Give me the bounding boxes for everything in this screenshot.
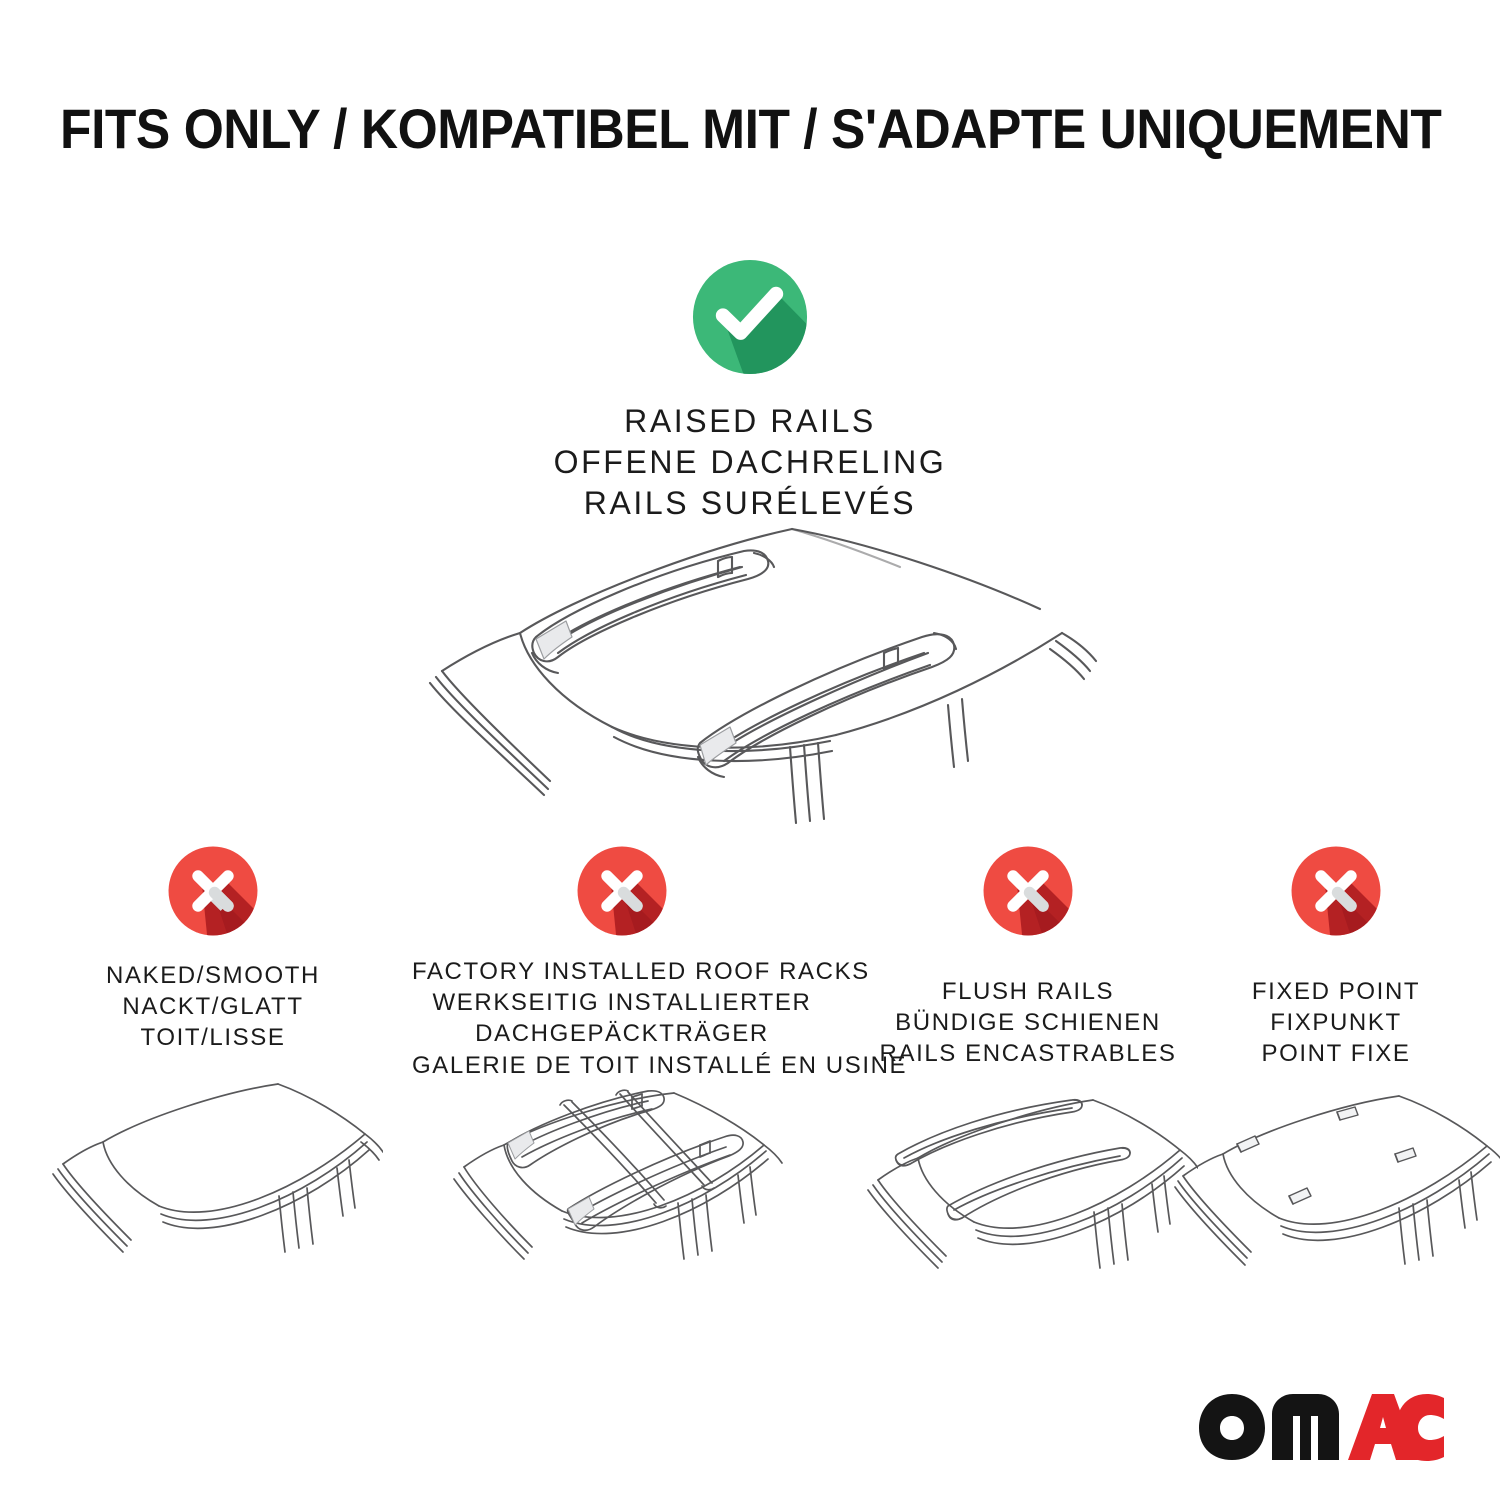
compatible-label-de: OFFENE DACHRELING [0,442,1500,483]
cross-circle-icon [38,845,388,942]
incompatible-label-de: FIXPUNKT [1196,1007,1476,1038]
check-circle-icon [0,258,1500,381]
incompatible-label-fr: TOIT/LISSE [38,1022,388,1053]
car-roof-factory-roof-racks-illustration [412,1085,832,1335]
omac-logo-text: OMAC [1196,1390,1244,1394]
cross-circle-icon [848,845,1208,942]
incompatible-labels: NAKED/SMOOTH NACKT/GLATT TOIT/LISSE [38,960,388,1054]
cross-circle-icon [412,845,832,942]
car-roof-naked-smooth-illustration [38,1072,388,1322]
incompatible-label-de-1: WERKSEITIG INSTALLIERTER [412,987,832,1018]
incompatible-label-en: FACTORY INSTALLED ROOF RACKS [412,956,832,987]
incompatible-item-naked-smooth: NAKED/SMOOTH NACKT/GLATT TOIT/LISSE [38,845,388,1322]
car-roof-fixed-point-illustration [1196,1088,1476,1338]
incompatible-labels: FIXED POINT FIXPUNKT POINT FIXE [1196,976,1476,1070]
car-roof-raised-rails-illustration [400,505,1100,835]
incompatible-label-de: BÜNDIGE SCHIENEN [848,1007,1208,1038]
incompatible-label-fr: RAILS ENCASTRABLES [848,1038,1208,1069]
page-title: FITS ONLY / KOMPATIBEL MIT / S'ADAPTE UN… [60,96,1441,161]
omac-logo: OMAC [1196,1390,1446,1462]
incompatible-label-fr: POINT FIXE [1196,1038,1476,1069]
incompatible-label-fr: GALERIE DE TOIT INSTALLÉ EN USINE [412,1050,832,1081]
page-title-bar: FITS ONLY / KOMPATIBEL MIT / S'ADAPTE UN… [0,96,1500,161]
incompatible-labels: FACTORY INSTALLED ROOF RACKS WERKSEITIG … [412,956,832,1081]
incompatible-label-de: NACKT/GLATT [38,991,388,1022]
incompatible-item-flush-rails: FLUSH RAILS BÜNDIGE SCHIENEN RAILS ENCAS… [848,845,1208,1338]
incompatible-label-en: NAKED/SMOOTH [38,960,388,991]
cross-circle-icon [1196,845,1476,942]
incompatible-label-de-2: DACHGEPÄCKTRÄGER [412,1018,832,1049]
incompatible-label-en: FLUSH RAILS [848,976,1208,1007]
compatible-label-en: RAISED RAILS [0,401,1500,442]
incompatible-label-en: FIXED POINT [1196,976,1476,1007]
incompatible-section: NAKED/SMOOTH NACKT/GLATT TOIT/LISSE [0,845,1500,1485]
incompatible-item-factory-roof-racks: FACTORY INSTALLED ROOF RACKS WERKSEITIG … [412,845,832,1335]
car-roof-flush-rails-illustration [848,1088,1208,1338]
compatible-section: RAISED RAILS OFFENE DACHRELING RAILS SUR… [0,258,1500,524]
incompatible-labels: FLUSH RAILS BÜNDIGE SCHIENEN RAILS ENCAS… [848,976,1208,1070]
incompatible-item-fixed-point: FIXED POINT FIXPUNKT POINT FIXE [1196,845,1476,1338]
